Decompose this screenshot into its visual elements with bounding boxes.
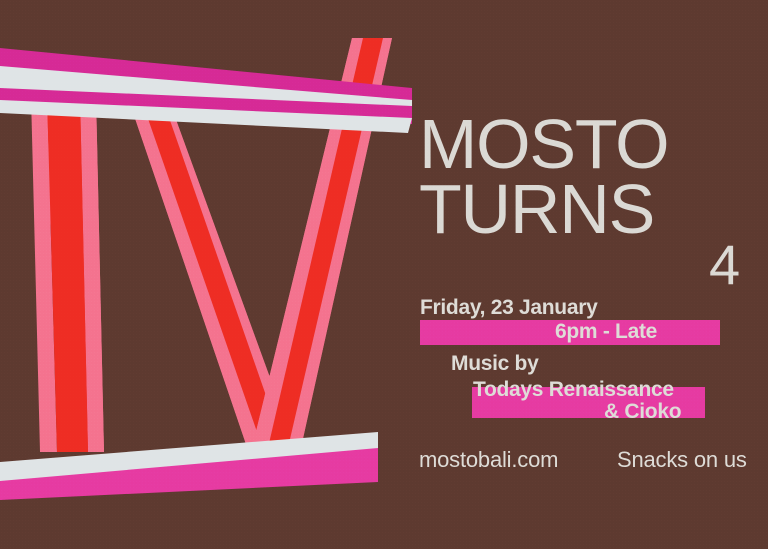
page-title: MOSTO TURNS <box>419 112 668 242</box>
lineup-act-primary: Todays Renaissance <box>473 378 674 402</box>
music-by-label: Music by <box>451 352 538 376</box>
poster-canvas: MOSTO TURNS 4 Friday, 23 January 6pm - L… <box>0 0 768 549</box>
event-time: 6pm - Late <box>555 320 657 344</box>
poster-content: MOSTO TURNS 4 Friday, 23 January 6pm - L… <box>0 0 768 549</box>
lineup-act-secondary: & Cioko <box>604 400 681 424</box>
headline-line-2: TURNS <box>419 177 668 242</box>
event-date: Friday, 23 January <box>420 296 597 320</box>
snacks-note: Snacks on us <box>617 447 747 473</box>
anniversary-number: 4 <box>709 237 740 293</box>
website-link[interactable]: mostobali.com <box>419 447 558 473</box>
